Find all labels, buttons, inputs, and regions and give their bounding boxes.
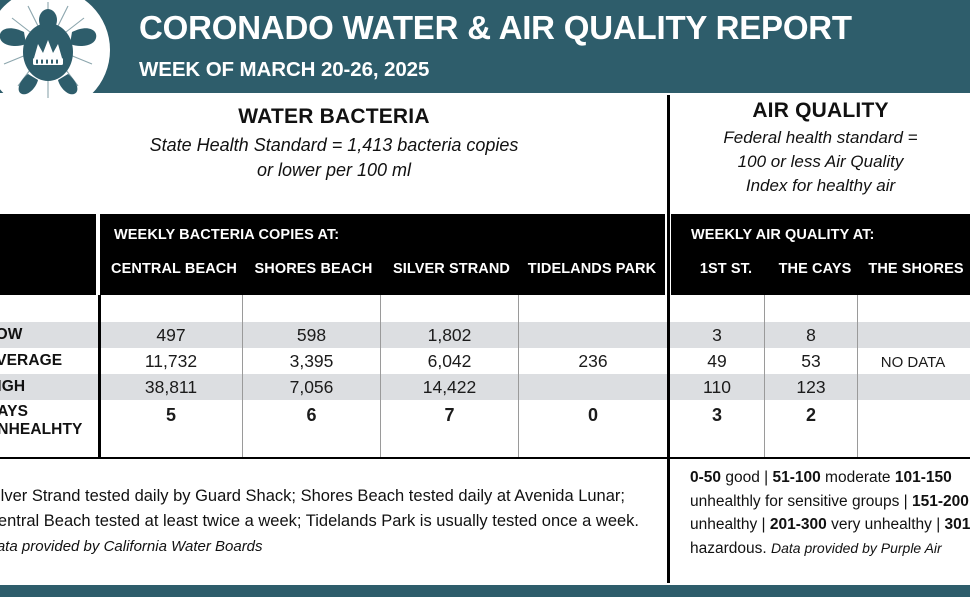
row-label-days-unhealhty: DAYS UNHEALHTY bbox=[0, 403, 96, 439]
page-subtitle: WEEK OF MARCH 20-26, 2025 bbox=[139, 57, 429, 83]
aqi-label-hazardous: hazardous. bbox=[690, 540, 767, 557]
aqi-label-good: good | bbox=[721, 469, 772, 486]
cell-average-the-shores: NO DATA bbox=[858, 353, 968, 373]
row-label-low: LOW bbox=[0, 326, 96, 344]
column-header-silver-strand: SILVER STRAND bbox=[384, 261, 519, 277]
water-column-headers: CENTRAL BEACH SHORES BEACH SILVER STRAND… bbox=[100, 261, 665, 283]
cell-days-central-beach: 5 bbox=[100, 405, 242, 425]
stub-column-rule bbox=[98, 295, 101, 457]
page-title: CORONADO WATER & AIR QUALITY REPORT bbox=[139, 8, 852, 48]
water-standard-line2: or lower per 100 ml bbox=[56, 158, 612, 183]
footnote-divider bbox=[667, 459, 670, 583]
air-table-header: WEEKLY AIR QUALITY AT: 1ST ST. THE CAYS … bbox=[671, 214, 970, 295]
water-footnote-source: Data provided by California Water Boards bbox=[0, 538, 263, 555]
cell-average-tidelands-park: 236 bbox=[519, 351, 667, 371]
water-table-header: WEEKLY BACTERIA COPIES AT: CENTRAL BEACH… bbox=[100, 214, 665, 295]
water-footnote: Silver Strand tested daily by Guard Shac… bbox=[0, 484, 646, 559]
row-label-days-line1: DAYS bbox=[0, 403, 96, 421]
air-standard-line2: 100 or less Air Quality bbox=[677, 150, 964, 174]
cell-low-the-cays: 8 bbox=[765, 325, 857, 345]
water-section-intro: WATER BACTERIA State Health Standard = 1… bbox=[0, 93, 668, 214]
cell-days-tidelands-park: 0 bbox=[519, 405, 667, 425]
cell-low-shores-beach: 598 bbox=[243, 325, 380, 345]
water-section-standard: State Health Standard = 1,413 bacteria c… bbox=[0, 133, 668, 183]
column-header-central-beach: CENTRAL BEACH bbox=[104, 261, 244, 277]
water-group-header: WEEKLY BACTERIA COPIES AT: bbox=[114, 227, 339, 243]
column-header-the-cays: THE CAYS bbox=[769, 261, 861, 277]
cell-average-the-cays: 53 bbox=[765, 351, 857, 371]
column-header-tidelands-park: TIDELANDS PARK bbox=[521, 261, 663, 277]
row-label-high: HIGH bbox=[0, 378, 96, 396]
column-header-shores-beach: SHORES BEACH bbox=[246, 261, 381, 277]
aqi-range-hazardous: 301+ bbox=[945, 516, 970, 533]
cell-high-central-beach: 38,811 bbox=[100, 377, 242, 397]
row-label-days-line2: UNHEALHTY bbox=[0, 421, 96, 439]
section-column-rule bbox=[667, 295, 670, 457]
water-standard-line1: State Health Standard = 1,413 bacteria c… bbox=[56, 133, 612, 158]
header-band: CORONADO WATER & AIR QUALITY REPORT WEEK… bbox=[0, 0, 970, 93]
bottom-accent-bar bbox=[0, 585, 970, 597]
data-table: WEEKLY BACTERIA COPIES AT: CENTRAL BEACH… bbox=[0, 214, 970, 457]
cell-low-1st-st: 3 bbox=[670, 325, 764, 345]
aqi-range-good: 0-50 bbox=[690, 469, 721, 486]
air-standard-line3: Index for healthy air bbox=[677, 174, 964, 198]
air-section-title: AIR QUALITY bbox=[671, 99, 970, 123]
column-rule-4 bbox=[764, 295, 765, 457]
column-header-the-shores: THE SHORES bbox=[865, 261, 967, 277]
turtle-crown-logo-icon bbox=[0, 0, 110, 112]
cell-average-silver-strand: 6,042 bbox=[381, 351, 518, 371]
cell-low-central-beach: 497 bbox=[100, 325, 242, 345]
report-page: CORONADO WATER & AIR QUALITY REPORT WEEK… bbox=[0, 0, 970, 597]
table-header-stub bbox=[0, 214, 96, 295]
water-section-title: WATER BACTERIA bbox=[0, 105, 668, 129]
cell-average-1st-st: 49 bbox=[670, 351, 764, 371]
column-rule-5 bbox=[857, 295, 858, 457]
aqi-label-sensitive: unhealthly for sensitive groups | bbox=[690, 493, 912, 510]
cell-low-silver-strand: 1,802 bbox=[381, 325, 518, 345]
section-intros: WATER BACTERIA State Health Standard = 1… bbox=[0, 93, 970, 214]
air-standard-line1: Federal health standard = bbox=[677, 126, 964, 150]
air-group-header: WEEKLY AIR QUALITY AT: bbox=[691, 227, 874, 243]
aqi-range-sensitive: 101-150 bbox=[895, 469, 952, 486]
table-body: LOW 497 598 1,802 3 8 AVERAGE 11,732 3,3… bbox=[0, 295, 970, 457]
cell-average-shores-beach: 3,395 bbox=[243, 351, 380, 371]
row-label-average: AVERAGE bbox=[0, 352, 96, 370]
cell-average-central-beach: 11,732 bbox=[100, 351, 242, 371]
water-footnote-text: Silver Strand tested daily by Guard Shac… bbox=[0, 487, 639, 530]
cell-high-1st-st: 110 bbox=[670, 377, 764, 397]
aqi-range-very-unhealthy: 201-300 bbox=[770, 516, 827, 533]
column-rule-2 bbox=[380, 295, 381, 457]
aqi-range-moderate: 51-100 bbox=[772, 469, 820, 486]
column-rule-1 bbox=[242, 295, 243, 457]
cell-days-shores-beach: 6 bbox=[243, 405, 380, 425]
air-column-headers: 1ST ST. THE CAYS THE SHORES bbox=[671, 261, 970, 283]
column-header-1st-st: 1ST ST. bbox=[685, 261, 767, 277]
aqi-range-unhealthy: 151-200 bbox=[912, 493, 969, 510]
cell-high-silver-strand: 14,422 bbox=[381, 377, 518, 397]
table-bottom-rule bbox=[0, 457, 970, 459]
air-footnote-source: Data provided by Purple Air bbox=[771, 540, 942, 556]
air-legend: 0-50 good | 51-100 moderate 101-150 unhe… bbox=[690, 466, 970, 560]
cell-days-the-cays: 2 bbox=[765, 405, 857, 425]
cell-days-silver-strand: 7 bbox=[381, 405, 518, 425]
cell-days-1st-st: 3 bbox=[670, 405, 764, 425]
column-rule-3 bbox=[518, 295, 519, 457]
aqi-label-very-unhealthy: very unhealthy | bbox=[827, 516, 945, 533]
aqi-label-unhealthy: unhealthy | bbox=[690, 516, 770, 533]
aqi-label-moderate: moderate bbox=[821, 469, 891, 486]
air-section-standard: Federal health standard = 100 or less Ai… bbox=[671, 126, 970, 198]
cell-high-the-cays: 123 bbox=[765, 377, 857, 397]
cell-high-shores-beach: 7,056 bbox=[243, 377, 380, 397]
air-section-intro: AIR QUALITY Federal health standard = 10… bbox=[671, 93, 970, 214]
